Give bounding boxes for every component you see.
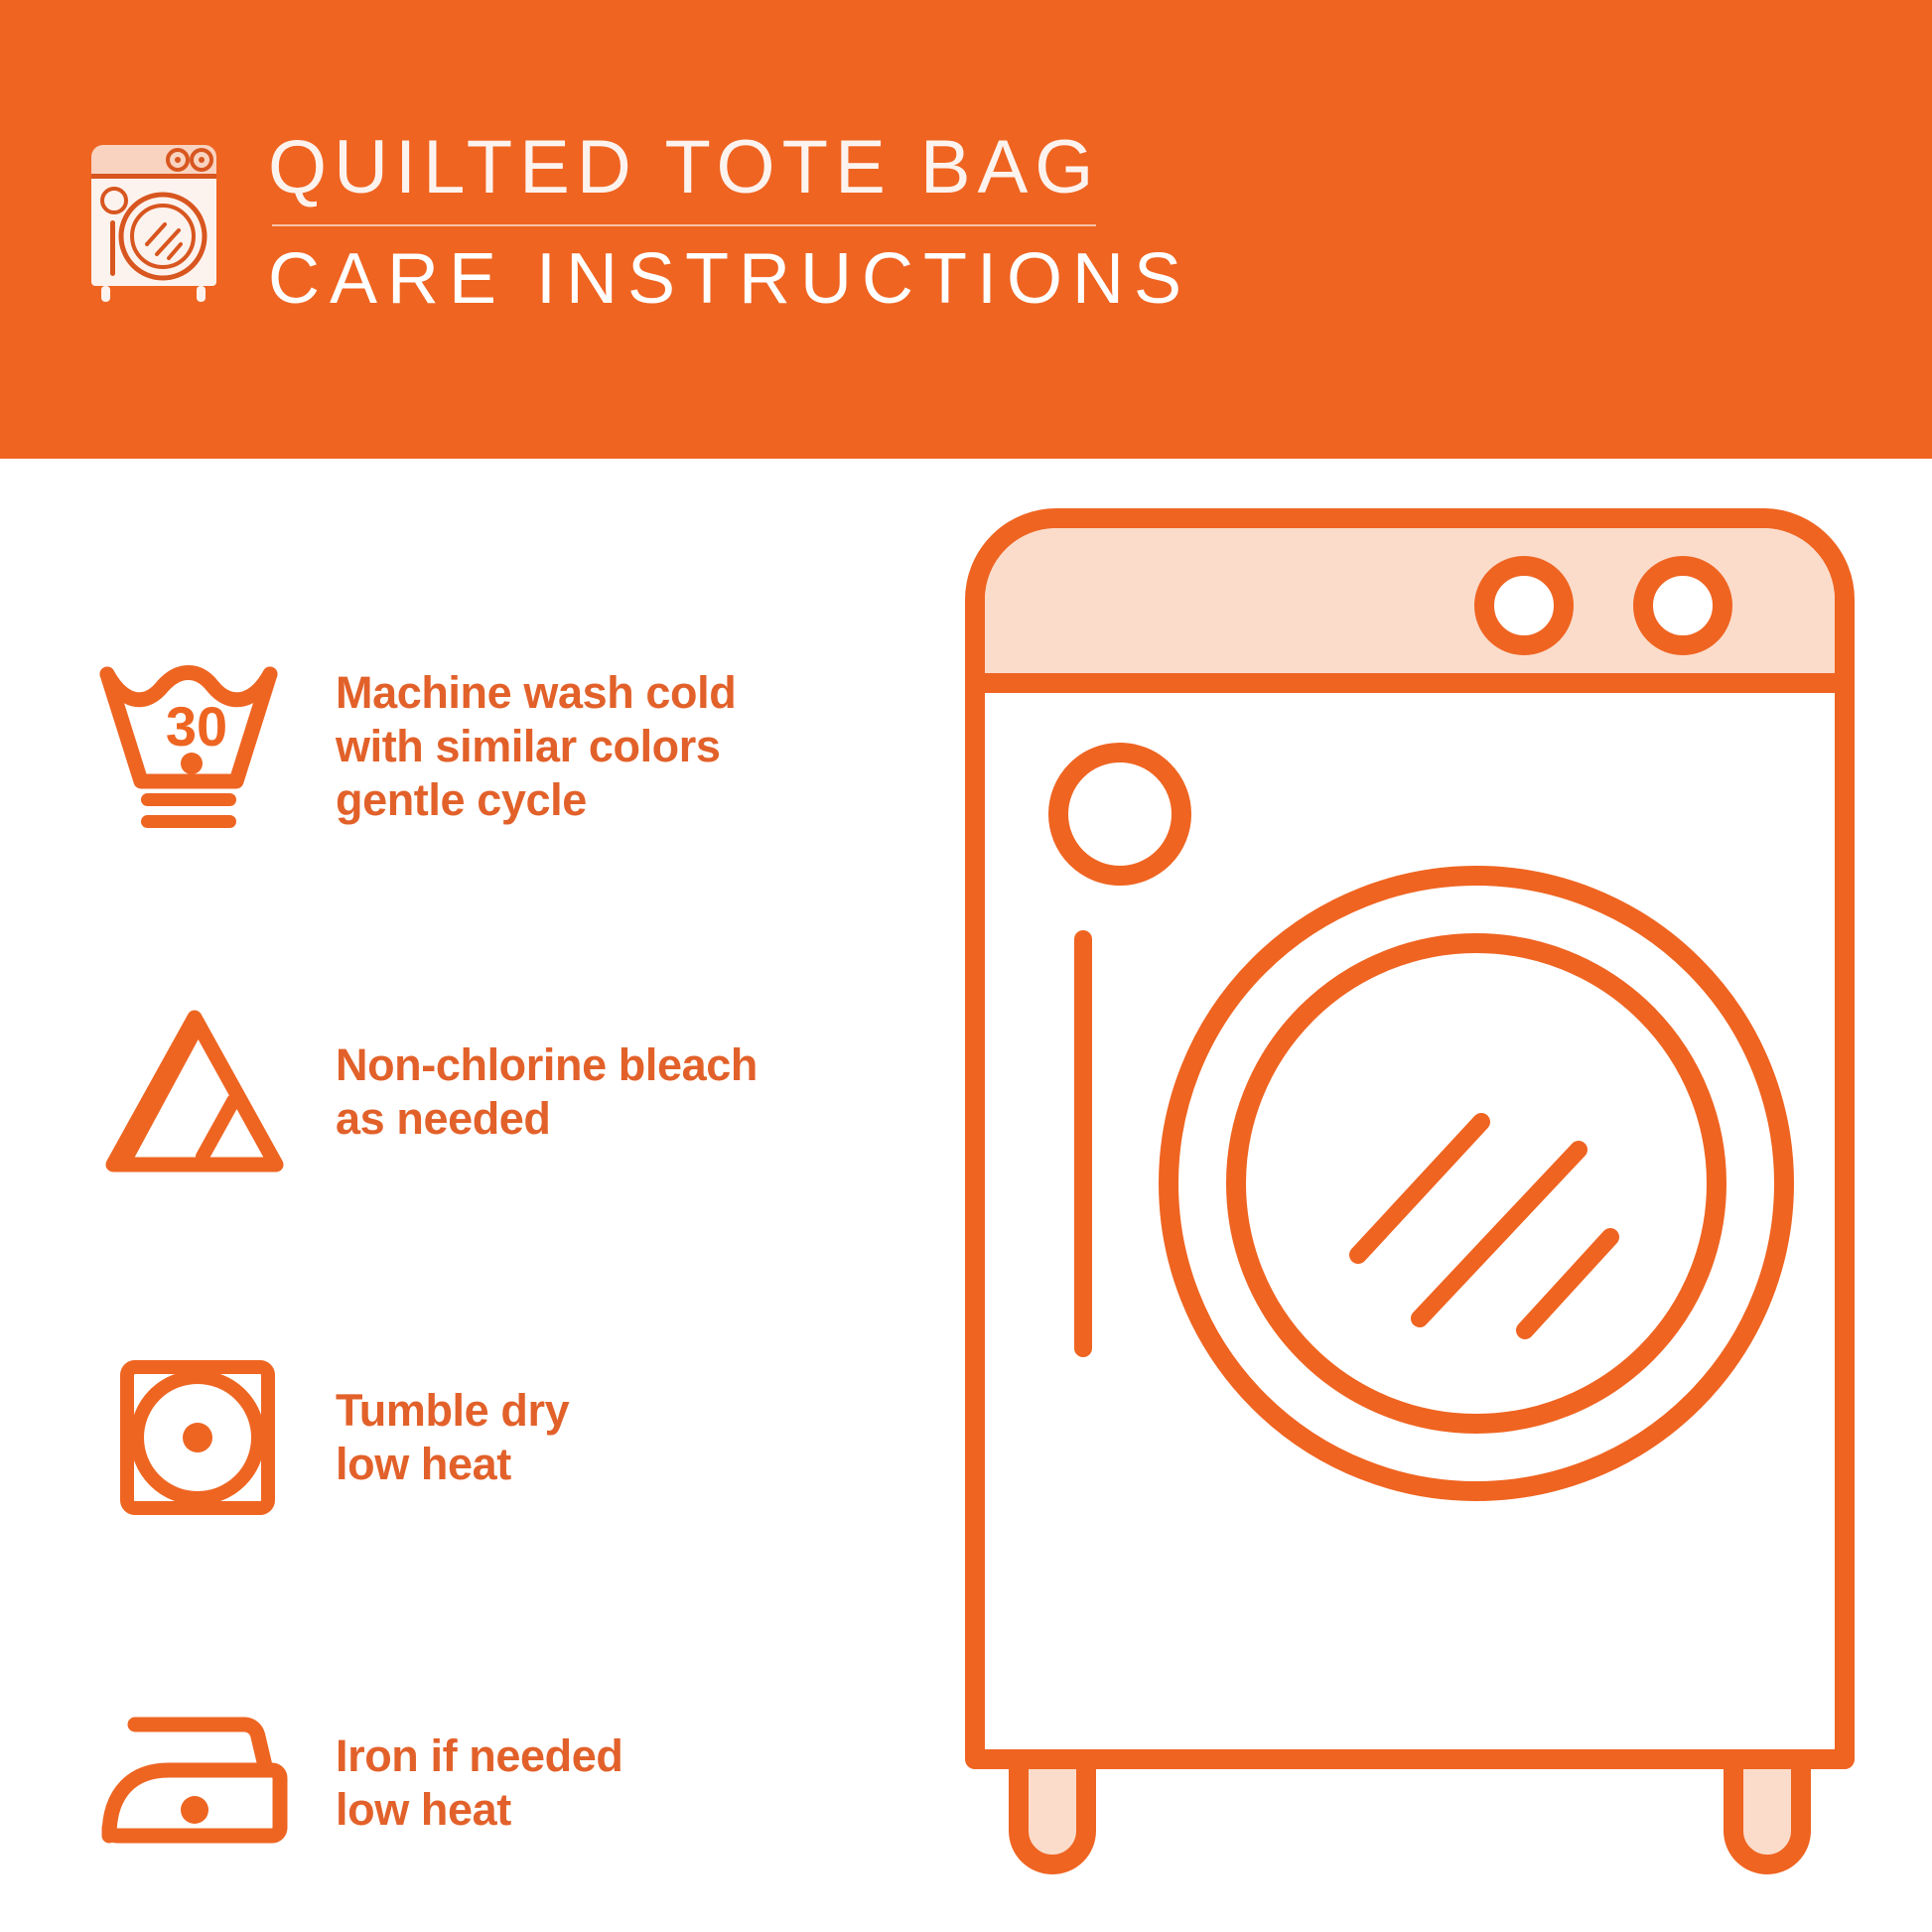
list-item: Tumble dry low heat	[87, 1328, 921, 1547]
main-content: 30 Machine wash cold with similar colors…	[0, 459, 1932, 1932]
leg-right	[1733, 1759, 1801, 1864]
iron-low-heat-icon	[87, 1697, 301, 1870]
care-text-line: gentle cycle	[336, 773, 736, 827]
list-item: Non-chlorine bleach as needed	[87, 983, 921, 1201]
page-subtitle: CARE INSTRUCTIONS	[268, 240, 1191, 318]
header-banner: QUILTED TOTE BAG CARE INSTRUCTIONS	[0, 0, 1932, 459]
page-title: QUILTED TOTE BAG	[268, 127, 1191, 208]
knob-right	[1643, 566, 1723, 645]
care-text-line: Non-chlorine bleach	[336, 1038, 758, 1092]
header-titles: QUILTED TOTE BAG CARE INSTRUCTIONS	[268, 127, 1191, 318]
care-instruction-text: Non-chlorine bleach as needed	[336, 1038, 758, 1146]
care-text-line: with similar colors	[336, 720, 736, 773]
status-bar	[1074, 930, 1092, 1357]
list-item: 30 Machine wash cold with similar colors…	[87, 637, 921, 856]
care-text-line: Iron if needed	[336, 1729, 622, 1783]
care-text-line: Machine wash cold	[336, 666, 736, 720]
tumble-dry-low-heat-icon	[87, 1351, 301, 1525]
care-text-line: as needed	[336, 1092, 758, 1146]
front-load-washing-machine-illustration	[953, 488, 1866, 1898]
care-instruction-list: 30 Machine wash cold with similar colors…	[87, 637, 921, 1892]
title-divider	[272, 224, 1096, 226]
knob-left	[1484, 566, 1564, 645]
wash-temperature-label: 30	[165, 695, 226, 758]
machine-wash-30-gentle-icon: 30	[87, 660, 301, 834]
care-instruction-text: Iron if needed low heat	[336, 1729, 622, 1837]
header-content: QUILTED TOTE BAG CARE INSTRUCTIONS	[77, 127, 1191, 318]
care-instruction-text: Tumble dry low heat	[336, 1384, 569, 1491]
care-instruction-text: Machine wash cold with similar colors ge…	[336, 666, 736, 827]
washing-machine-icon	[77, 133, 236, 304]
care-text-line: Tumble dry	[336, 1384, 569, 1438]
care-text-line: low heat	[336, 1783, 622, 1837]
leg-left	[1019, 1759, 1086, 1864]
list-item: Iron if needed low heat	[87, 1674, 921, 1892]
non-chlorine-bleach-triangle-icon	[87, 1006, 301, 1179]
care-text-line: low heat	[336, 1438, 569, 1491]
